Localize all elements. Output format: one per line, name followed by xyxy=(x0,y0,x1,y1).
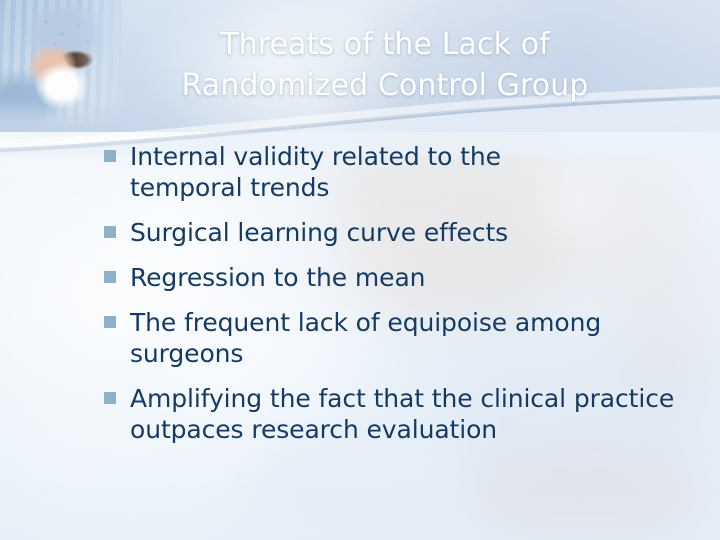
bullet-text: Amplifying the fact that the clinical pr… xyxy=(130,383,690,445)
square-bullet-icon xyxy=(104,392,116,404)
bullet-item-3: Regression to the mean xyxy=(104,262,694,293)
slide-bullet-list: Internal validity related to the tempora… xyxy=(104,141,694,459)
bullet-item-5: Amplifying the fact that the clinical pr… xyxy=(104,383,694,445)
presentation-slide: Threats of the Lack of Randomized Contro… xyxy=(0,0,720,540)
square-bullet-icon xyxy=(104,150,116,162)
bullet-text: Surgical learning curve effects xyxy=(130,217,560,248)
bullet-text: Regression to the mean xyxy=(130,262,560,293)
square-bullet-icon xyxy=(104,226,116,238)
square-bullet-icon xyxy=(104,271,116,283)
bullet-text: The frequent lack of equipoise among sur… xyxy=(130,307,690,369)
bullet-item-1: Internal validity related to the tempora… xyxy=(104,141,694,203)
bullet-text: Internal validity related to the tempora… xyxy=(130,141,560,203)
slide-title: Threats of the Lack of Randomized Contro… xyxy=(100,24,670,106)
bullet-item-4: The frequent lack of equipoise among sur… xyxy=(104,307,694,369)
bullet-item-2: Surgical learning curve effects xyxy=(104,217,694,248)
square-bullet-icon xyxy=(104,316,116,328)
